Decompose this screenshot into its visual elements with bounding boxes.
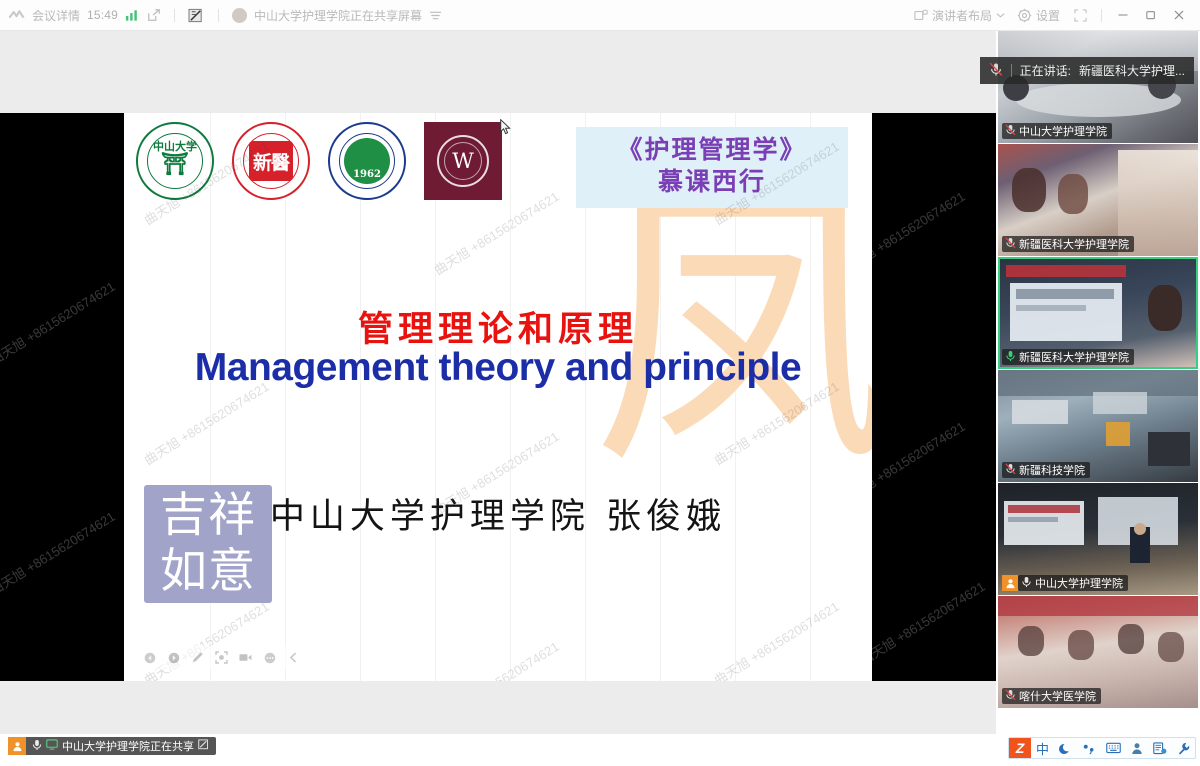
settings-label: 设置 xyxy=(1036,7,1060,24)
title-bar: 会议详情 15:49 xyxy=(0,0,1200,31)
tile-name-text: 新疆医科大学护理学院 xyxy=(1019,349,1129,365)
mic-muted-icon xyxy=(989,62,1003,80)
maximize-button[interactable] xyxy=(1138,4,1164,26)
video-tile[interactable]: 中山大学护理学院 xyxy=(998,483,1198,595)
camera-icon[interactable] xyxy=(239,651,252,664)
mic-muted-icon xyxy=(1005,124,1016,139)
hamburger-icon[interactable] xyxy=(429,10,442,21)
logo-sun-yat-sen-university: 中山大学 ⛩ xyxy=(136,122,214,200)
pen-icon[interactable] xyxy=(191,651,204,664)
settings-wrench-icon[interactable] xyxy=(1172,738,1195,758)
screen-share-icon xyxy=(46,739,58,753)
slideshow-toolbar[interactable] xyxy=(132,645,311,670)
sharing-status-text: 中山大学护理学院正在共享 xyxy=(62,738,194,754)
user-icon[interactable] xyxy=(1126,738,1148,758)
logo-xinjiang-medical-university: 新醫 xyxy=(232,122,310,200)
next-slide-icon[interactable] xyxy=(167,651,180,664)
chinese-mode-icon[interactable]: 中 xyxy=(1031,738,1054,758)
tile-participant-label: 中山大学护理学院 xyxy=(1018,575,1128,591)
course-title-line1: 《护理管理学》 xyxy=(576,134,848,166)
tencent-meeting-logo-icon xyxy=(8,7,25,24)
meeting-window: 会议详情 15:49 xyxy=(0,0,1200,766)
gear-icon xyxy=(1017,8,1032,23)
sharing-status-text: 中山大学护理学院正在共享屏幕 xyxy=(254,7,422,24)
slide-title-chinese: 管理理论和原理 xyxy=(124,301,872,352)
minimize-button[interactable] xyxy=(1110,4,1136,26)
host-badge-icon xyxy=(8,737,26,755)
chevron-down-icon xyxy=(996,12,1005,19)
shared-screen-stage: 曲天旭 +8615620674621 曲天旭 +8615620674621 曲天… xyxy=(0,31,996,734)
previous-slide-icon[interactable] xyxy=(143,651,156,664)
share-status-icon xyxy=(198,739,210,754)
tile-name-text: 中山大学护理学院 xyxy=(1035,575,1123,591)
tile-participant-label: 新疆医科大学护理学院 xyxy=(1002,349,1134,365)
meeting-time: 15:49 xyxy=(87,8,118,22)
toolbox-icon[interactable] xyxy=(1148,738,1172,758)
ime-toolbar[interactable]: Z 中 xyxy=(1008,737,1196,759)
more-options-icon[interactable] xyxy=(263,651,276,664)
tile-participant-label: 中山大学护理学院 xyxy=(1002,123,1112,139)
tile-participant-label: 喀什大学医学院 xyxy=(1002,688,1101,704)
divider xyxy=(1011,64,1012,77)
video-tile[interactable]: 喀什大学医学院 xyxy=(998,596,1198,708)
logo-text-cn: 中山大学 xyxy=(153,138,197,154)
course-title-line2: 慕课西行 xyxy=(576,166,848,198)
video-tile[interactable]: 中山大学护理学院 xyxy=(998,31,1198,143)
university-logo-row: 中山大学 ⛩ 新醫 1962 W xyxy=(136,122,502,200)
mic-muted-icon xyxy=(1005,689,1016,704)
signal-bars-icon[interactable] xyxy=(125,8,140,22)
video-tile-active-speaker[interactable]: 新疆医科大学护理学院 xyxy=(998,257,1198,369)
mic-on-icon xyxy=(1005,350,1016,365)
collapse-left-icon[interactable] xyxy=(287,651,300,664)
bottom-bar: 中山大学护理学院正在共享 Z 中 xyxy=(0,734,1200,766)
decorative-seal-stamp: 吉祥如意 xyxy=(144,485,272,603)
speaker-layout-button[interactable]: 演讲者布局 xyxy=(909,4,1010,27)
tile-name-text: 新疆医科大学护理学院 xyxy=(1019,236,1129,252)
mic-on-icon xyxy=(1021,576,1032,591)
active-speaker-banner: 正在讲话: 新疆医科大学护理... xyxy=(980,57,1194,84)
fullscreen-button[interactable] xyxy=(1067,4,1093,26)
divider xyxy=(1101,9,1102,22)
mic-icon xyxy=(32,739,42,754)
popout-window-icon[interactable] xyxy=(147,8,161,22)
sharing-status-chip[interactable]: 中山大学护理学院正在共享 xyxy=(8,737,216,755)
course-title-box: 《护理管理学》 慕课西行 xyxy=(576,127,848,208)
mic-muted-icon xyxy=(1005,237,1016,252)
moon-icon[interactable] xyxy=(1054,738,1077,758)
video-tile[interactable]: 新疆科技学院 xyxy=(998,370,1198,482)
slide-title-english: Management theory and principle xyxy=(124,346,872,390)
spotlight-icon[interactable] xyxy=(215,651,228,664)
presentation-slide[interactable]: 凤 中山大学 ⛩ 新醫 1962 xyxy=(124,113,872,681)
divider xyxy=(174,9,175,22)
avatar xyxy=(232,8,247,23)
participant-video-strip[interactable]: 正在讲话: 新疆医科大学护理... 中山大学护理学院 xyxy=(996,31,1200,734)
host-badge-icon xyxy=(1002,575,1018,591)
shared-content-area[interactable]: 曲天旭 +8615620674621 曲天旭 +8615620674621 曲天… xyxy=(0,113,996,681)
settings-button[interactable]: 设置 xyxy=(1012,4,1065,27)
meeting-detail-label[interactable]: 会议详情 xyxy=(32,7,80,24)
ime-logo-icon[interactable]: Z xyxy=(1009,738,1031,758)
punctuation-icon[interactable] xyxy=(1077,738,1101,758)
logo-kashi-university: 1962 xyxy=(328,122,406,200)
speaking-label: 正在讲话: xyxy=(1020,62,1071,79)
speaker-layout-label: 演讲者布局 xyxy=(932,7,992,24)
close-button[interactable] xyxy=(1166,4,1192,26)
recording-icon[interactable] xyxy=(188,8,205,23)
logo-shihezi-university: W xyxy=(424,122,502,200)
tile-name-text: 喀什大学医学院 xyxy=(1019,688,1096,704)
soft-keyboard-icon[interactable] xyxy=(1101,738,1126,758)
speaking-name: 新疆医科大学护理... xyxy=(1079,62,1185,79)
layout-icon xyxy=(914,9,928,22)
divider xyxy=(218,9,219,22)
tile-participant-label: 新疆医科大学护理学院 xyxy=(1002,236,1134,252)
mic-muted-icon xyxy=(1005,463,1016,478)
tile-name-text: 中山大学护理学院 xyxy=(1019,123,1107,139)
tile-name-text: 新疆科技学院 xyxy=(1019,462,1085,478)
video-tile[interactable]: 新疆医科大学护理学院 xyxy=(998,144,1198,256)
tile-participant-label: 新疆科技学院 xyxy=(1002,462,1090,478)
